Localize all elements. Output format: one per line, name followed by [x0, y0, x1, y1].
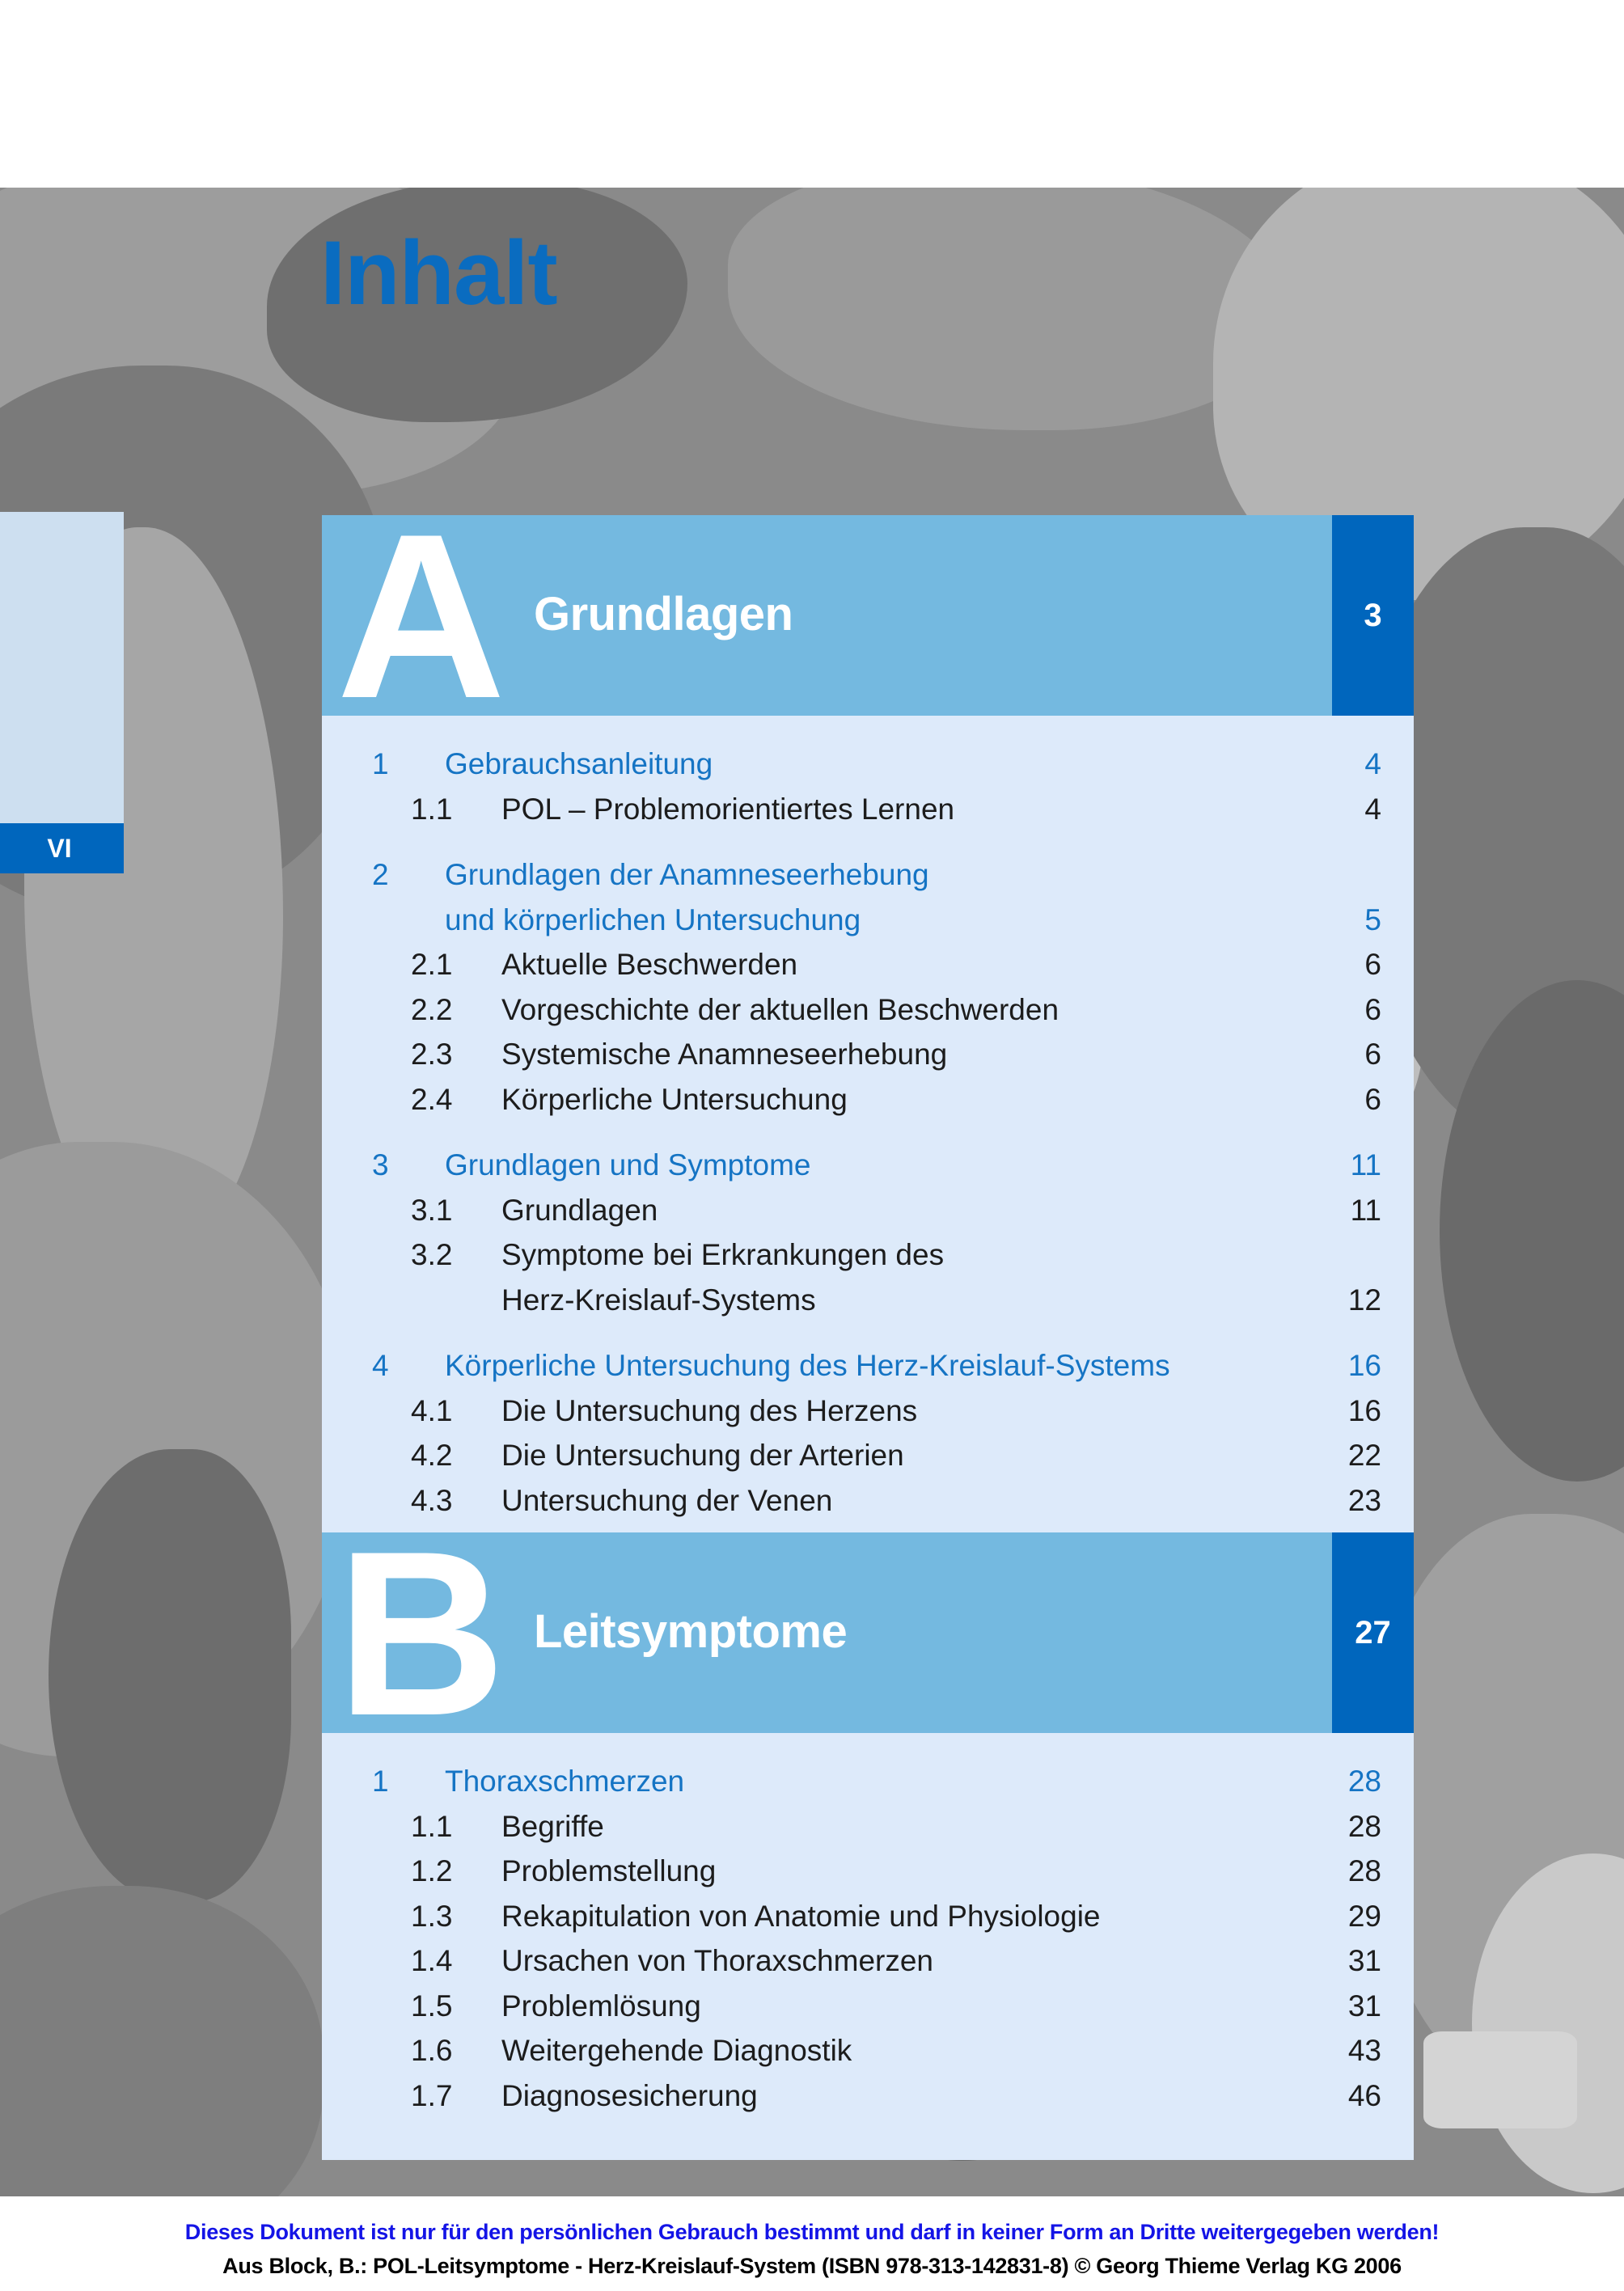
toc-entry[interactable]: 2.3Systemische Anamneseerhebung6: [322, 1032, 1414, 1077]
folio-page-number: VI: [0, 823, 124, 873]
toc-entry-page: 31: [1325, 1984, 1414, 2029]
toc-entry[interactable]: 1.3Rekapitulation von Anatomie und Physi…: [322, 1894, 1414, 1939]
toc-entry-title: Aktuelle Beschwerden: [501, 942, 1325, 987]
section-toc-a: 1Gebrauchsanleitung41.1POL – Problemorie…: [322, 716, 1414, 1565]
toc-entry-title: Symptome bei Erkrankungen des: [501, 1232, 1325, 1278]
toc-entry-title: Rekapitulation von Anatomie und Physiolo…: [501, 1894, 1325, 1939]
toc-entry-title: Ursachen von Thoraxschmerzen: [501, 1938, 1325, 1984]
toc-entry-page: 16: [1325, 1343, 1414, 1389]
toc-entry-number: 1.1: [411, 1804, 501, 1849]
toc-entry-page: 4: [1325, 742, 1414, 787]
document-page: Inhalt VI A Grundlagen 3 1Gebrauchsanlei…: [0, 0, 1624, 2291]
toc-group: 3Grundlagen und Symptome113.1Grundlagen1…: [322, 1143, 1414, 1322]
toc-group: 1Gebrauchsanleitung41.1POL – Problemorie…: [322, 742, 1414, 831]
toc-entry-page: 16: [1325, 1389, 1414, 1434]
toc-entry-number: 2.2: [411, 987, 501, 1033]
toc-entry[interactable]: 4Körperliche Untersuchung des Herz-Kreis…: [322, 1343, 1414, 1389]
toc-entry-page: 46: [1325, 2073, 1414, 2119]
footer: Dieses Dokument ist nur für den persönli…: [0, 2216, 1624, 2284]
section-header-b: B Leitsymptome 27: [322, 1532, 1414, 1733]
toc-entry-number: 1.4: [411, 1938, 501, 1984]
toc-entry[interactable]: 1.2Problemstellung28: [322, 1849, 1414, 1894]
toc-entry-title: Körperliche Untersuchung: [501, 1077, 1325, 1122]
toc-entry-number: 2.4: [411, 1077, 501, 1122]
footer-citation: Aus Block, B.: POL-Leitsymptome - Herz-K…: [0, 2250, 1624, 2284]
toc-entry-title: Begriffe: [501, 1804, 1325, 1849]
toc-entry-number: 1: [372, 1759, 445, 1804]
toc-entry-page: 6: [1325, 942, 1414, 987]
footer-notice: Dieses Dokument ist nur für den persönli…: [0, 2216, 1624, 2250]
folio-tab-body: [0, 512, 124, 823]
toc-entry-page: 23: [1325, 1478, 1414, 1524]
toc-entry-number: 1.5: [411, 1984, 501, 2029]
toc-entry-title: Thoraxschmerzen: [445, 1759, 1325, 1804]
toc-entry[interactable]: 1.6Weitergehende Diagnostik43: [322, 2028, 1414, 2073]
toc-entry-number: 1.3: [411, 1894, 501, 1939]
toc-entry-title: Die Untersuchung des Herzens: [501, 1389, 1325, 1434]
toc-entry[interactable]: Herz-Kreislauf-Systems12: [322, 1278, 1414, 1323]
toc-entry-number: 1.1: [411, 787, 501, 832]
section-page-number: 3: [1332, 515, 1414, 716]
section-block-b: B Leitsymptome 27 1Thoraxschmerzen281.1B…: [322, 1532, 1414, 2160]
toc-entry-number: 3: [372, 1143, 445, 1188]
toc-entry-title: Die Untersuchung der Arterien: [501, 1433, 1325, 1478]
toc-entry-number: 2.1: [411, 942, 501, 987]
toc-entry-title: Problemlösung: [501, 1984, 1325, 2029]
section-letter: A: [336, 509, 501, 725]
toc-entry-number: 1: [372, 742, 445, 787]
toc-entry-page: 22: [1325, 1433, 1414, 1478]
toc-entry-page: 6: [1325, 987, 1414, 1033]
toc-group: 1Thoraxschmerzen281.1Begriffe281.2Proble…: [322, 1759, 1414, 2118]
toc-entry-page: 12: [1325, 1278, 1414, 1323]
section-block-a: A Grundlagen 3 1Gebrauchsanleitung41.1PO…: [322, 515, 1414, 1565]
toc-entry-page: 6: [1325, 1032, 1414, 1077]
toc-entry-page: 28: [1325, 1759, 1414, 1804]
toc-entry-number: 1.6: [411, 2028, 501, 2073]
toc-entry[interactable]: und körperlichen Untersuchung5: [322, 898, 1414, 943]
toc-entry-title: Grundlagen der Anamneseerhebung: [445, 852, 1325, 898]
section-page-number: 27: [1332, 1532, 1414, 1733]
toc-entry-number: 4.2: [411, 1433, 501, 1478]
toc-entry-page: 11: [1325, 1143, 1414, 1188]
toc-entry-title: Gebrauchsanleitung: [445, 742, 1325, 787]
toc-entry[interactable]: 1Gebrauchsanleitung4: [322, 742, 1414, 787]
toc-entry-title: Herz-Kreislauf-Systems: [501, 1278, 1325, 1323]
folio-tab: VI: [0, 512, 124, 873]
toc-entry-title: Problemstellung: [501, 1849, 1325, 1894]
toc-entry-title: Grundlagen: [501, 1188, 1325, 1233]
toc-entry[interactable]: 1.5Problemlösung31: [322, 1984, 1414, 2029]
toc-entry-page: 28: [1325, 1849, 1414, 1894]
toc-entry-number: 1.2: [411, 1849, 501, 1894]
toc-entry-page: 43: [1325, 2028, 1414, 2073]
toc-entry[interactable]: 1.1Begriffe28: [322, 1804, 1414, 1849]
toc-entry[interactable]: 3.1Grundlagen11: [322, 1188, 1414, 1233]
toc-entry-number: 4: [372, 1343, 445, 1389]
section-header-a: A Grundlagen 3: [322, 515, 1414, 716]
toc-entry-title: Systemische Anamneseerhebung: [501, 1032, 1325, 1077]
toc-entry[interactable]: 1.4Ursachen von Thoraxschmerzen31: [322, 1938, 1414, 1984]
toc-entry-title: Körperliche Untersuchung des Herz-Kreisl…: [445, 1343, 1325, 1389]
toc-entry[interactable]: 2.2Vorgeschichte der aktuellen Beschwerd…: [322, 987, 1414, 1033]
toc-entry-number: 4.1: [411, 1389, 501, 1434]
toc-entry-page: 5: [1325, 898, 1414, 943]
toc-entry[interactable]: 2.1Aktuelle Beschwerden6: [322, 942, 1414, 987]
toc-entry-number: 1.7: [411, 2073, 501, 2119]
toc-entry-number: 3.2: [411, 1232, 501, 1278]
section-toc-b: 1Thoraxschmerzen281.1Begriffe281.2Proble…: [322, 1733, 1414, 2160]
toc-entry-title: Grundlagen und Symptome: [445, 1143, 1325, 1188]
toc-entry[interactable]: 3Grundlagen und Symptome11: [322, 1143, 1414, 1188]
page-title: Inhalt: [320, 228, 557, 319]
toc-entry-number: 3.1: [411, 1188, 501, 1233]
toc-entry[interactable]: 3.2Symptome bei Erkrankungen des: [322, 1232, 1414, 1278]
toc-entry-title: und körperlichen Untersuchung: [445, 898, 1325, 943]
toc-entry-page: 31: [1325, 1938, 1414, 1984]
toc-entry-number: 2: [372, 852, 445, 898]
toc-entry-title: Untersuchung der Venen: [501, 1478, 1325, 1524]
section-title: Grundlagen: [534, 587, 793, 641]
toc-entry[interactable]: 2.4Körperliche Untersuchung6: [322, 1077, 1414, 1122]
toc-entry-page: 11: [1325, 1188, 1414, 1233]
toc-entry[interactable]: 4.2Die Untersuchung der Arterien22: [322, 1433, 1414, 1478]
toc-entry-title: POL – Problemorientiertes Lernen: [501, 787, 1325, 832]
toc-group: 2Grundlagen der Anamneseerhebungund körp…: [322, 852, 1414, 1122]
toc-entry-number: 2.3: [411, 1032, 501, 1077]
toc-entry[interactable]: 1.7Diagnosesicherung46: [322, 2073, 1414, 2119]
toc-entry[interactable]: 4.1Die Untersuchung des Herzens16: [322, 1389, 1414, 1434]
section-letter: B: [336, 1526, 501, 1742]
toc-entry-page: 29: [1325, 1894, 1414, 1939]
toc-entry[interactable]: 1.1POL – Problemorientiertes Lernen4: [322, 787, 1414, 832]
toc-entry-page: 4: [1325, 787, 1414, 832]
toc-entry-title: Weitergehende Diagnostik: [501, 2028, 1325, 2073]
toc-entry[interactable]: 1Thoraxschmerzen28: [322, 1759, 1414, 1804]
toc-entry[interactable]: 2Grundlagen der Anamneseerhebung: [322, 852, 1414, 898]
toc-entry-page: 28: [1325, 1804, 1414, 1849]
toc-entry-title: Vorgeschichte der aktuellen Beschwerden: [501, 987, 1325, 1033]
toc-entry-title: Diagnosesicherung: [501, 2073, 1325, 2119]
toc-entry-page: 6: [1325, 1077, 1414, 1122]
toc-group: 4Körperliche Untersuchung des Herz-Kreis…: [322, 1343, 1414, 1523]
section-title: Leitsymptome: [534, 1604, 847, 1659]
